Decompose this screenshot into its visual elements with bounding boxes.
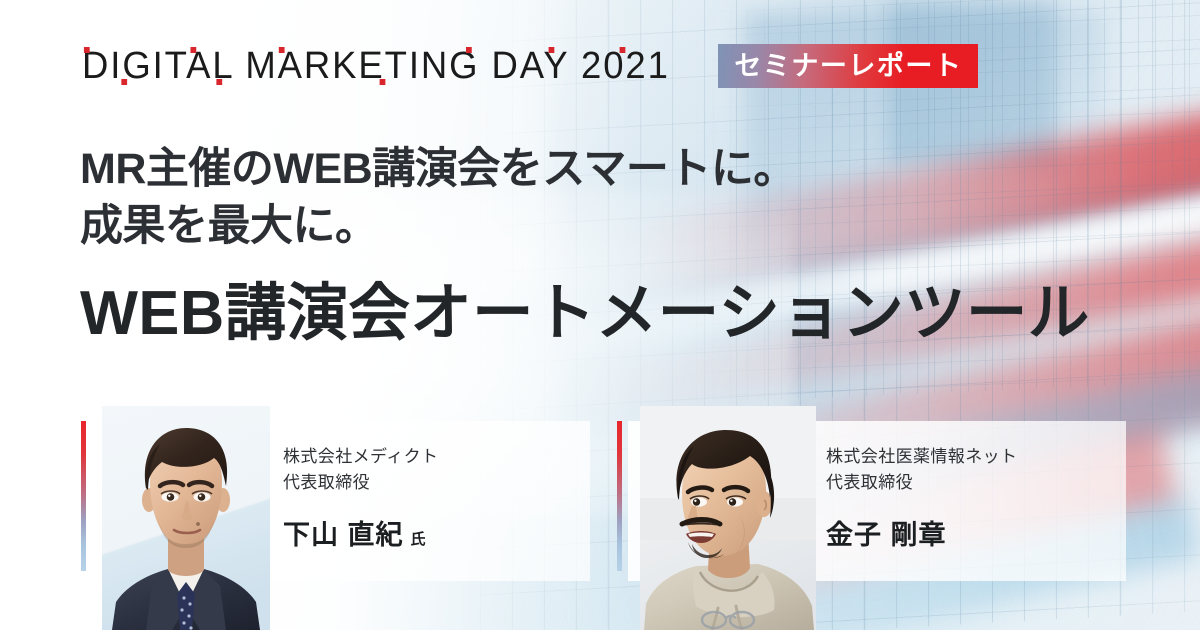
portrait-shimoyama-icon [102,406,270,630]
speaker-photo [640,406,816,630]
seminar-report-badge-label: セミナーレポート [734,53,962,80]
speaker-organization: 株式会社メディクト [283,444,583,470]
wordmark-accent-tick-9 [620,47,626,53]
speaker-name-row: 下山 直紀 氏 [283,513,583,552]
speaker-accent-bar [81,421,86,571]
speaker-photo [102,406,270,630]
seminar-report-banner: DIGITAL MARKETING DAY 2021 セミナーレポート MR主催… [0,0,1200,630]
main-headline: WEB講演会オートメーションツール [80,281,1090,347]
event-wordmark-label: DIGITAL MARKETING DAY 2021 [82,45,670,87]
wordmark-accent-tick-7 [466,47,472,53]
speaker-card: 株式会社メディクト 代表取締役 下山 直紀 氏 [78,406,590,630]
wordmark-accent-tick-4 [216,79,222,85]
wordmark-accent-tick-5 [279,47,285,53]
speaker-name: 下山 直紀 [283,513,404,552]
speaker-card: 株式会社医薬情報ネット 代表取締役 金子 剛章 [614,406,1126,630]
speaker-honorific: 氏 [411,528,426,549]
event-wordmark: DIGITAL MARKETING DAY 2021 [82,47,679,85]
speaker-organization: 株式会社医薬情報ネット [826,444,1126,470]
speaker-accent-bar [617,421,622,571]
wordmark-accent-tick-6 [380,79,386,85]
wordmark-accent-tick-8 [549,47,555,53]
speaker-info: 株式会社医薬情報ネット 代表取締役 金子 剛章 [826,444,1126,552]
portrait-kaneko-icon [640,406,816,630]
speaker-title: 代表取締役 [826,470,1126,496]
seminar-report-badge: セミナーレポート [718,44,978,88]
event-logo-row: DIGITAL MARKETING DAY 2021 セミナーレポート [82,44,978,88]
speaker-info: 株式会社メディクト 代表取締役 下山 直紀 氏 [283,444,583,552]
speaker-name-row: 金子 剛章 [826,513,1126,552]
wordmark-accent-tick-2 [121,79,127,85]
speaker-name: 金子 剛章 [826,513,947,552]
speaker-title: 代表取締役 [283,470,583,496]
wordmark-accent-tick-3 [190,47,196,53]
sub-headline: MR主催のWEB講演会をスマートに。 成果を最大に。 [80,141,796,255]
wordmark-accent-tick-1 [84,47,90,53]
speaker-list: 株式会社メディクト 代表取締役 下山 直紀 氏 [0,406,1200,630]
